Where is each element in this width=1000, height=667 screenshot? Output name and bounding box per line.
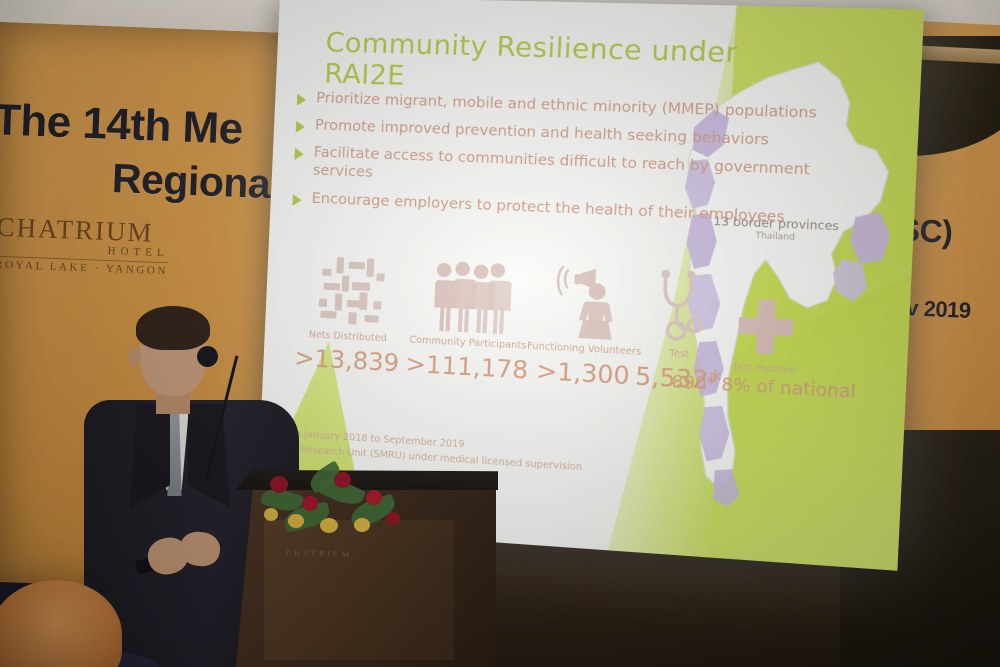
stat-label: Nets Distributed	[309, 329, 387, 344]
rose-flower	[386, 512, 400, 525]
stat-label: Community Participants	[409, 334, 527, 351]
triangle-bullet-icon	[294, 148, 304, 160]
banner-title-line1: The 14th Me	[0, 95, 244, 155]
yellow-flower	[320, 518, 338, 533]
presenter-hair	[136, 306, 210, 350]
net-mesh-icon	[312, 246, 388, 328]
hotel-logo: CHATRIUM HOTEL ROYAL LAKE · YANGON	[0, 212, 170, 278]
rose-flower	[334, 472, 351, 488]
stethoscope-icon	[653, 261, 710, 344]
yellow-flower	[264, 508, 278, 521]
stat-functioning-volunteers: Functioning Volunteers >1,300	[527, 256, 644, 391]
stat-community-participants: Community Participants >111,178	[405, 250, 532, 384]
stat-value: >1,300	[536, 356, 631, 390]
microphone-icon	[197, 346, 218, 367]
stat-label: Test	[669, 348, 690, 360]
floral-arrangement	[258, 456, 408, 542]
rose-flower	[302, 496, 318, 511]
triangle-bullet-icon	[296, 121, 306, 133]
triangle-bullet-icon	[292, 193, 302, 205]
people-group-icon	[427, 251, 513, 334]
triangle-bullet-icon	[297, 94, 307, 106]
hotel-logo-name: CHATRIUM	[0, 212, 170, 250]
slide-bullet-list: Prioritize migrant, mobile and ethnic mi…	[292, 89, 842, 238]
presenter-ear	[128, 348, 141, 366]
rose-flower	[270, 476, 288, 493]
yellow-flower	[288, 514, 304, 528]
stat-test-positive: Test Positive 890* 8% of national	[717, 275, 814, 401]
stat-label: Functioning Volunteers	[527, 341, 642, 358]
banner-title-line2: Regiona	[111, 155, 271, 208]
podium-logo: CHATRIUM	[286, 548, 352, 559]
yellow-flower	[354, 518, 370, 532]
stat-label: Test Positive	[732, 362, 796, 377]
rose-flower	[366, 490, 382, 505]
medical-cross-icon	[735, 275, 797, 359]
conference-photo: The 14th Me Regiona (RSC) Nov 2019 CHATR…	[0, 0, 1000, 667]
bullet-text: Promote improved prevention and health s…	[315, 116, 770, 150]
megaphone-person-icon	[551, 257, 622, 340]
